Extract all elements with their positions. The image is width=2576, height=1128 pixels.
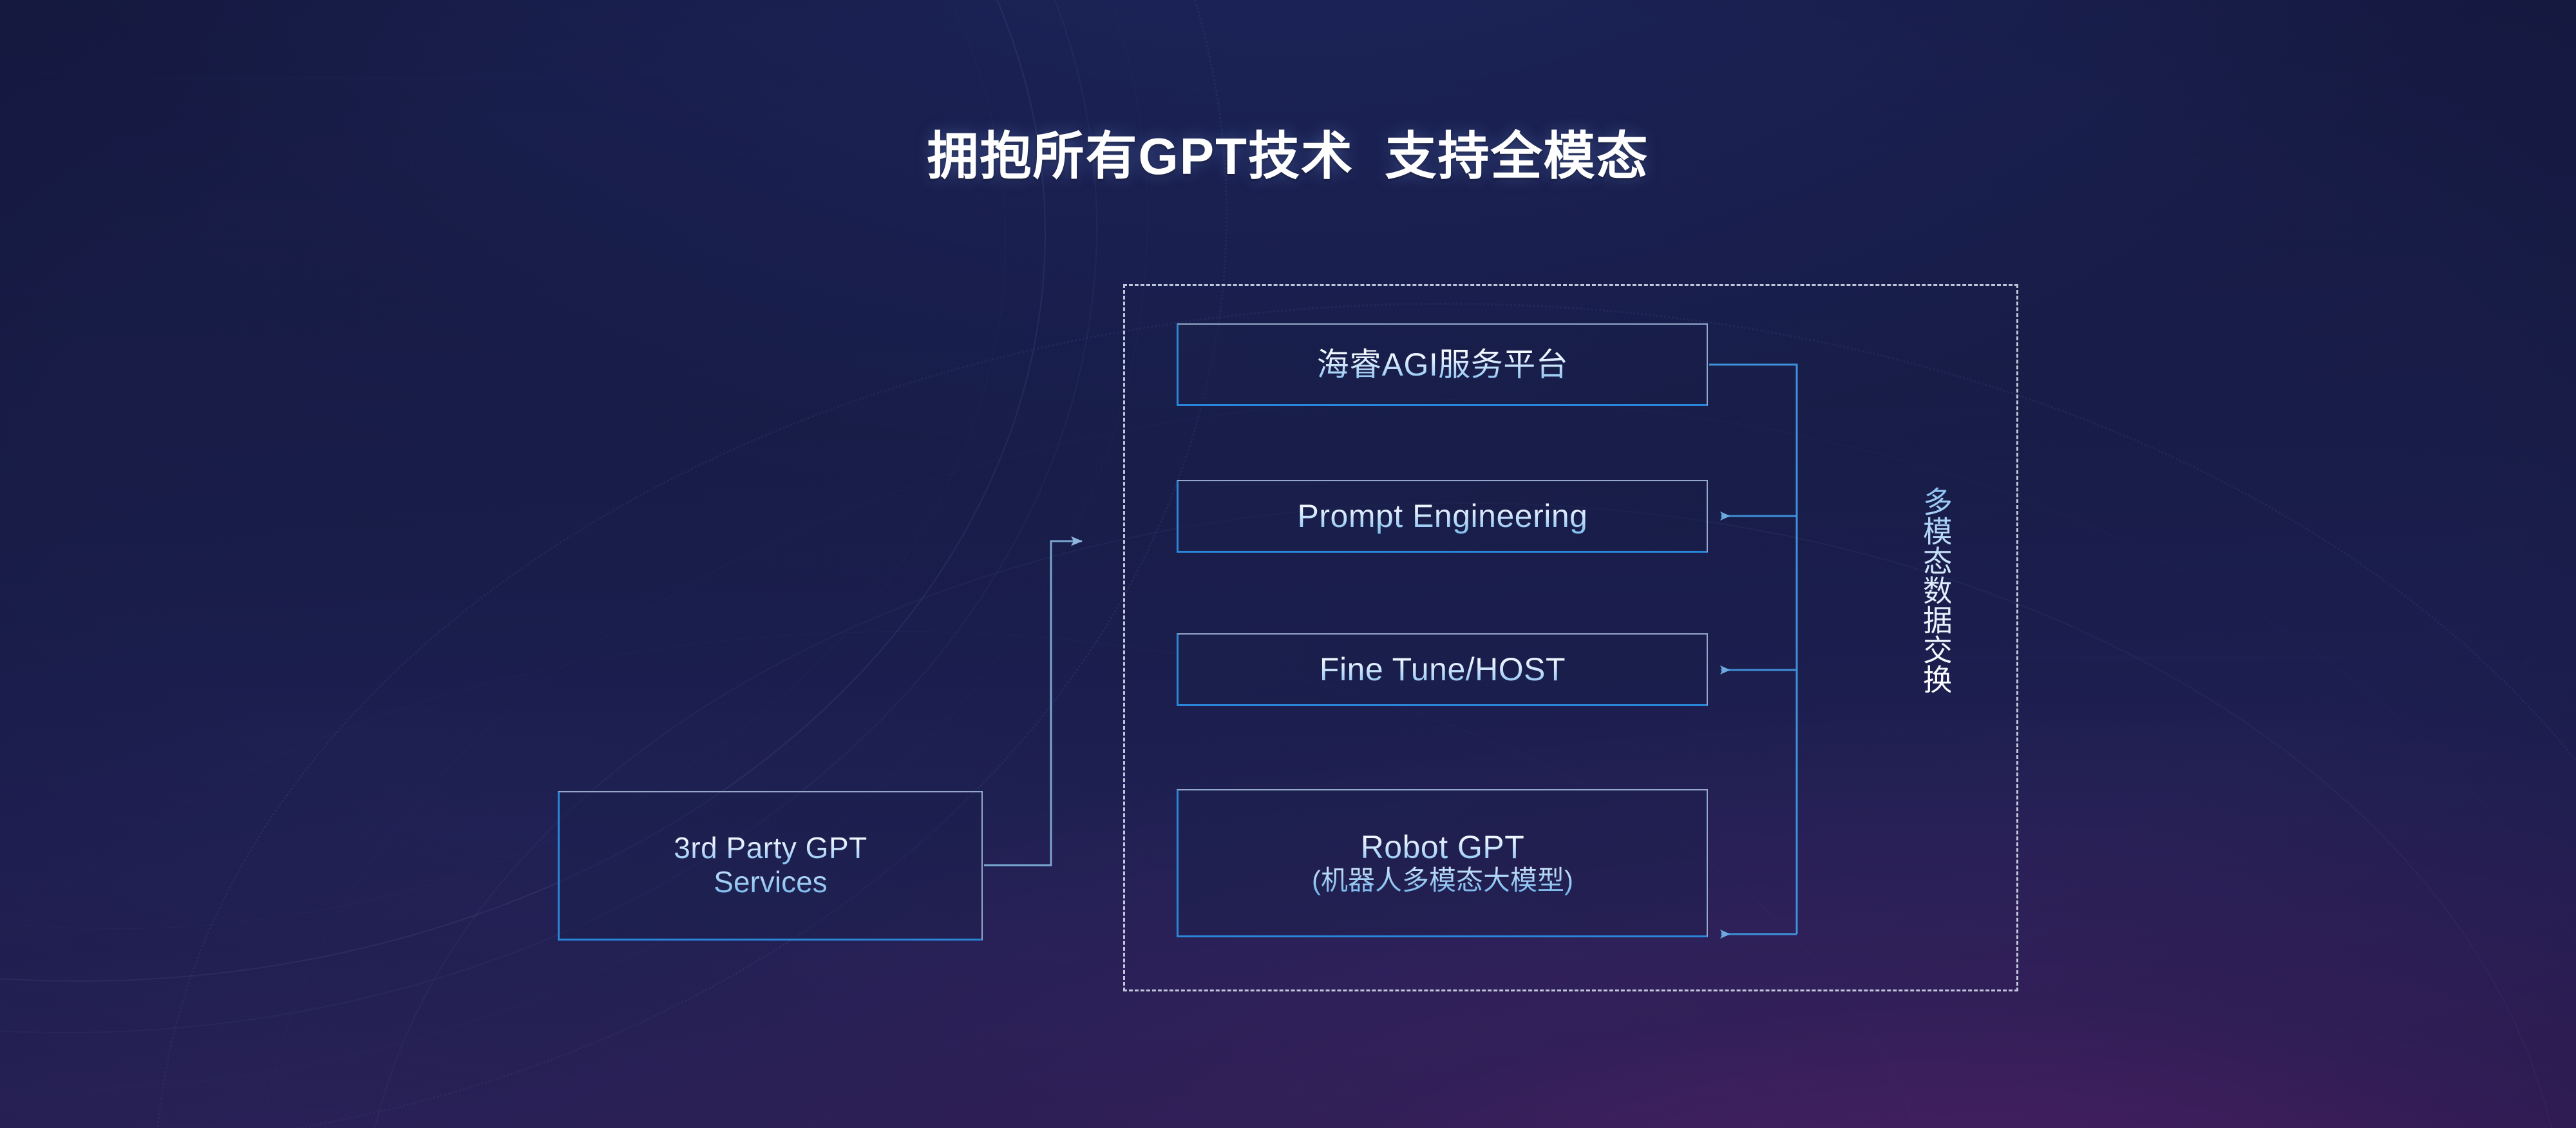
node-fine-tune-host[interactable]: Fine Tune/HOST: [1177, 633, 1708, 706]
node-label-secondary: Services: [714, 865, 827, 899]
node-robot-gpt[interactable]: Robot GPT (机器人多模态大模型): [1177, 789, 1708, 937]
page-title: 拥抱所有GPT技术 支持全模态: [0, 115, 2576, 189]
node-label-primary: Prompt Engineering: [1298, 498, 1588, 534]
node-label-secondary: (机器人多模态大模型): [1312, 865, 1573, 896]
slide-canvas: 拥抱所有GPT技术 支持全模态 海睿AGI服务平台 Prompt Engi: [0, 0, 2576, 1128]
node-third-party-gpt[interactable]: 3rd Party GPT Services: [558, 791, 983, 941]
node-label-primary: Robot GPT: [1361, 829, 1525, 865]
node-label-primary: 3rd Party GPT: [674, 832, 867, 865]
node-agi-platform[interactable]: 海睿AGI服务平台: [1177, 323, 1708, 406]
node-prompt-engineering[interactable]: Prompt Engineering: [1177, 480, 1708, 553]
node-label-primary: 海睿AGI服务平台: [1317, 347, 1569, 383]
node-label-primary: Fine Tune/HOST: [1320, 651, 1566, 687]
side-annotation-multimodal-exchange: 多模态数据交换: [1909, 486, 1951, 694]
